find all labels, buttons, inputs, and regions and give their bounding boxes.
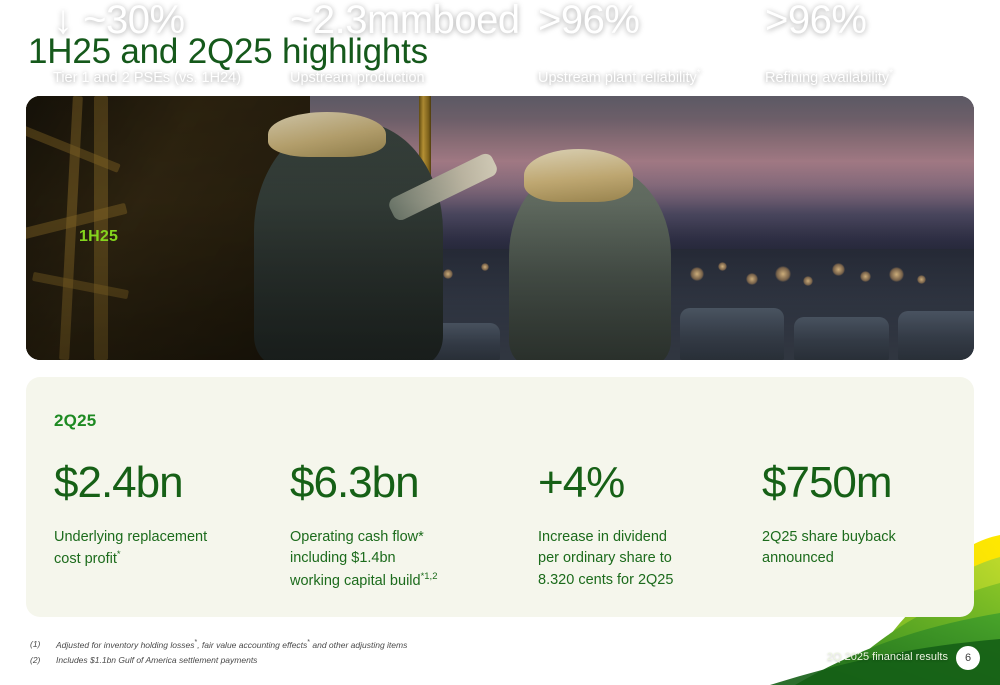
footnote-text: Adjusted for inventory holding losses*, … xyxy=(56,637,407,654)
quarter-highlights-panel: 2Q25 $2.4bn Underlying replacement cost … xyxy=(26,377,974,617)
stat-share-buyback: $750m 2Q25 share buyback announced xyxy=(762,461,896,570)
footnote-item: (1) Adjusted for inventory holding losse… xyxy=(30,637,407,654)
hero-image-panel: 1H25 xyxy=(26,96,974,360)
stat-operating-cash-flow: $6.3bn Operating cash flow* including $1… xyxy=(290,461,437,592)
footnotes: (1) Adjusted for inventory holding losse… xyxy=(30,637,407,669)
page-number-badge: 6 xyxy=(956,646,980,670)
hero-stat-upstream-production: ~2.3mmboed Upstream production xyxy=(290,0,520,86)
hero-stat-label: Tier 1 and 2 PSEs (vs. 1H24) xyxy=(53,68,241,86)
footnote-marker: * xyxy=(889,68,893,79)
footnote-marker: *1,2 xyxy=(421,571,438,582)
stat-value: $2.4bn xyxy=(54,461,207,505)
slide-root: 1H25 and 2Q25 highlights xyxy=(0,0,1000,685)
footnote-number: (1) xyxy=(30,637,46,654)
stat-label: Underlying replacement cost profit* xyxy=(54,527,207,571)
footnote-item: (2) Includes $1.1bn Gulf of America sett… xyxy=(30,653,407,669)
stat-value: $6.3bn xyxy=(290,461,437,505)
photo-overlay-tint xyxy=(26,96,974,360)
hero-stat-pses: ↓ ~30% Tier 1 and 2 PSEs (vs. 1H24) xyxy=(53,0,241,86)
panel-period-badge: 2Q25 xyxy=(54,411,96,431)
stat-underlying-profit: $2.4bn Underlying replacement cost profi… xyxy=(54,461,207,571)
footnote-text: Includes $1.1bn Gulf of America settleme… xyxy=(56,653,257,669)
hero-photo xyxy=(26,96,974,360)
footer-deck-title: 2Q 2025 financial results xyxy=(827,651,948,663)
stat-value: $750m xyxy=(762,461,896,505)
footnote-marker: * xyxy=(117,549,121,560)
footnote-number: (2) xyxy=(30,653,46,669)
hero-period-badge: 1H25 xyxy=(79,228,118,246)
hero-stat-label: Upstream plant reliability* xyxy=(538,68,701,86)
hero-stat-plant-reliability: >96% Upstream plant reliability* xyxy=(538,0,701,86)
footnote-marker: * xyxy=(697,68,701,79)
hero-stat-value: >96% xyxy=(538,0,701,40)
hero-stat-value: ↓ ~30% xyxy=(53,0,241,40)
stat-value: +4% xyxy=(538,461,673,505)
stat-dividend-increase: +4% Increase in dividend per ordinary sh… xyxy=(538,461,673,591)
stat-label: Increase in dividend per ordinary share … xyxy=(538,527,673,591)
hero-stat-label: Refining availability* xyxy=(765,68,893,86)
hero-stat-label: Upstream production xyxy=(290,68,520,86)
stat-label: 2Q25 share buyback announced xyxy=(762,527,896,570)
hero-stat-refining-availability: >96% Refining availability* xyxy=(765,0,893,86)
stat-label: Operating cash flow* including $1.4bn wo… xyxy=(290,527,437,592)
hero-stat-value: ~2.3mmboed xyxy=(290,0,520,40)
hero-stat-value: >96% xyxy=(765,0,893,40)
